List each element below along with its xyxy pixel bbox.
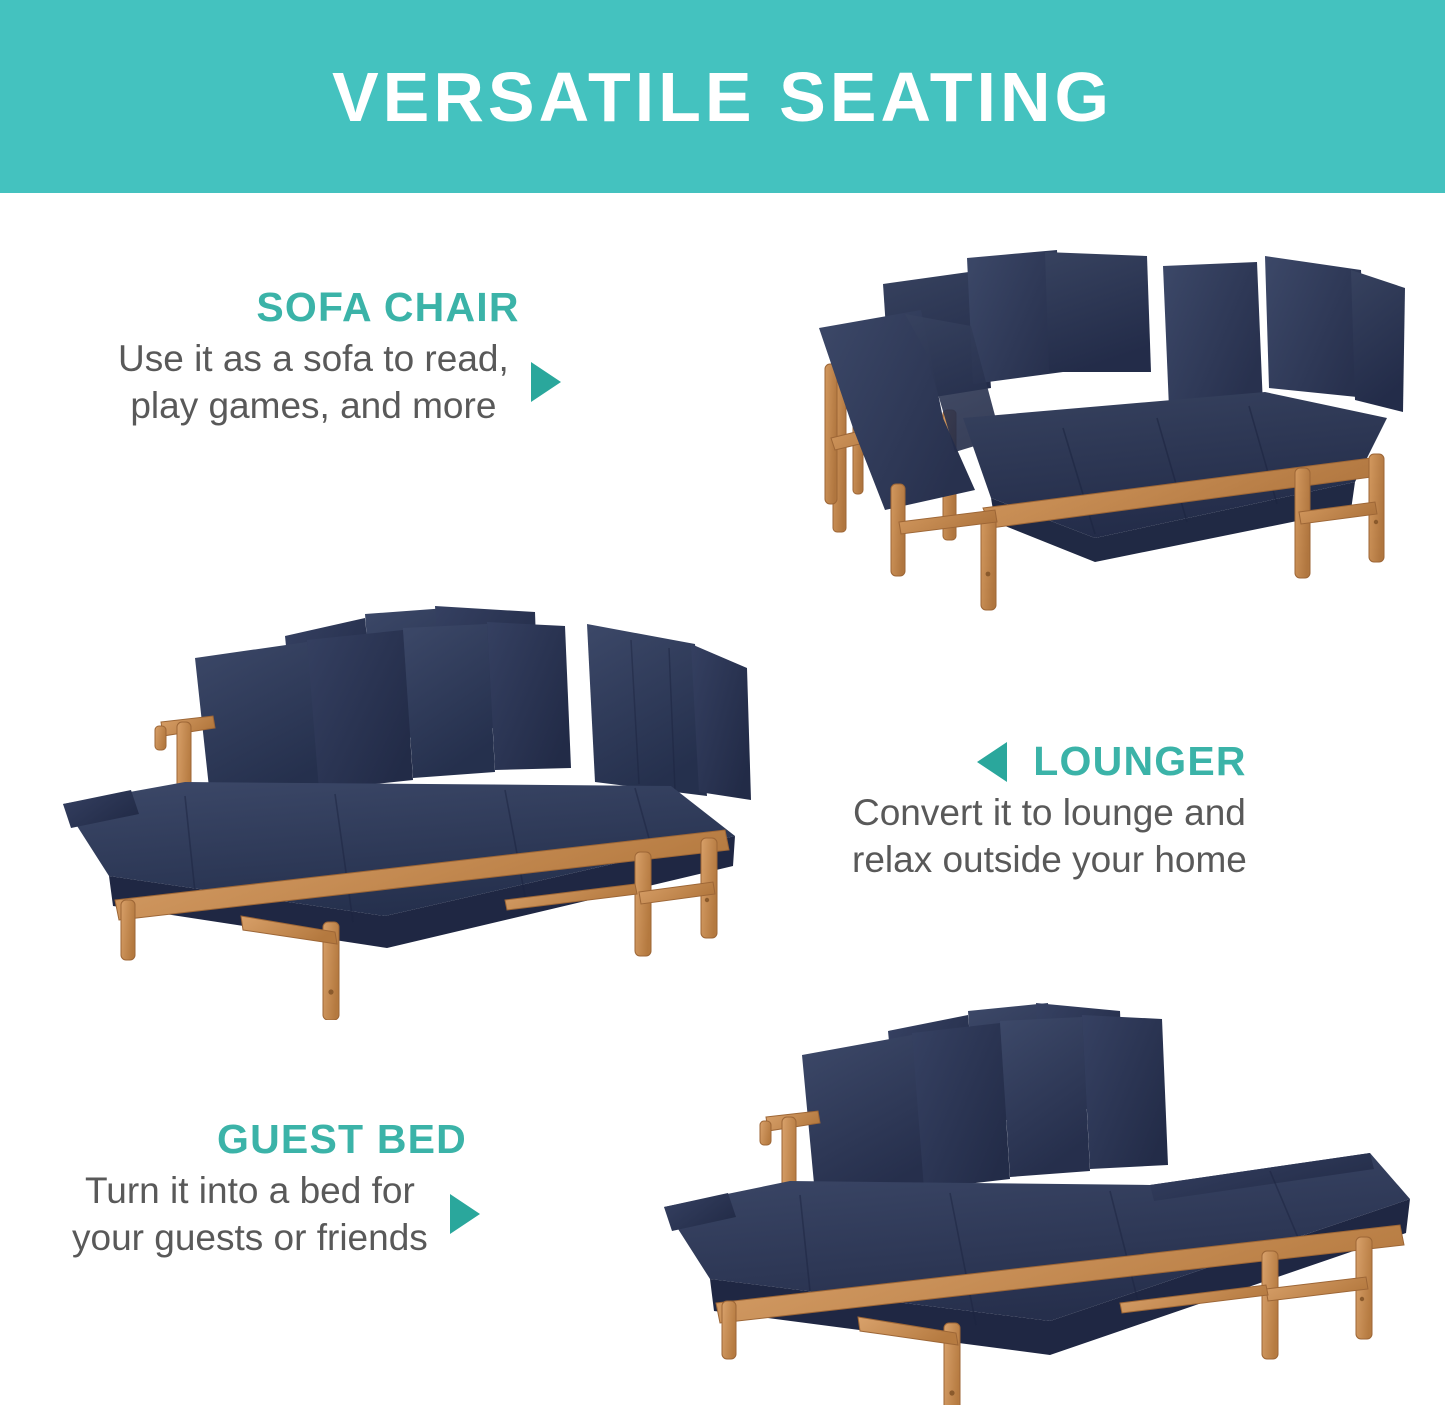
feature-block-lounger: LOUNGER Convert it to lounge and relax o…: [852, 740, 1372, 884]
feature-body-sofa-chair: Use it as a sofa to read, play games, an…: [118, 335, 509, 430]
feature-heading-row-lounger: LOUNGER: [852, 740, 1372, 783]
triangle-right-icon: [450, 1194, 480, 1234]
page-title: VERSATILE SEATING: [332, 62, 1113, 132]
feature-block-guest-bed: GUEST BED Turn it into a bed for your gu…: [72, 1118, 612, 1262]
feature-body-row-sofa-chair: Use it as a sofa to read, play games, an…: [118, 335, 658, 430]
feature-heading-row-sofa-chair: SOFA CHAIR: [118, 286, 658, 329]
triangle-left-icon: [977, 742, 1007, 782]
infographic-page: VERSATILE SEATING SOFA CHAIR Use it as a…: [0, 0, 1445, 1418]
feature-title-lounger: LOUNGER: [1033, 740, 1246, 783]
feature-title-guest-bed: GUEST BED: [217, 1118, 467, 1161]
feature-body-row-guest-bed: Turn it into a bed for your guests or fr…: [72, 1167, 612, 1262]
triangle-right-icon: [531, 362, 561, 402]
feature-body-guest-bed: Turn it into a bed for your guests or fr…: [72, 1167, 428, 1262]
feature-body-lounger: Convert it to lounge and relax outside y…: [852, 789, 1247, 884]
feature-heading-row-guest-bed: GUEST BED: [72, 1118, 612, 1161]
feature-title-sofa-chair: SOFA CHAIR: [256, 286, 519, 329]
guest-bed-photo: [650, 985, 1440, 1405]
lounger-photo: [35, 600, 775, 1020]
feature-block-sofa-chair: SOFA CHAIR Use it as a sofa to read, pla…: [118, 286, 658, 430]
feature-body-row-lounger: Convert it to lounge and relax outside y…: [852, 789, 1372, 884]
sofa-chair-photo: [795, 222, 1435, 612]
header-banner: VERSATILE SEATING: [0, 0, 1445, 193]
